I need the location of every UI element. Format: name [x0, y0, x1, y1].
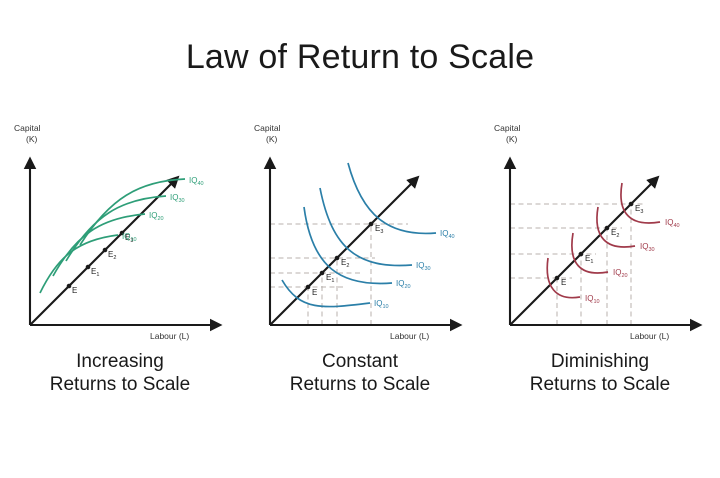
- label-isoquant-20: IQ20: [149, 211, 164, 222]
- expansion-path: [30, 183, 172, 325]
- isoquant-curve-4: [348, 163, 436, 233]
- y-axis-label-line2: (K): [266, 134, 278, 144]
- isoquant-curve-3: [66, 196, 166, 261]
- label-isoquant-20: IQ20: [613, 268, 628, 279]
- y-axis-label-line1: Capital: [494, 123, 521, 133]
- y-axis-label-line2: (K): [506, 134, 518, 144]
- chart-diminishing: E E1 E2 E3 IQ10 IQ20 IQ30 IQ40: [480, 115, 720, 345]
- label-point-E3: E3: [635, 204, 643, 215]
- isoquant-curve-4: [621, 183, 660, 223]
- caption-line1: Diminishing: [480, 350, 720, 373]
- label-point-E3: E3: [375, 224, 383, 235]
- panel-increasing: E E1 E2 E3 IQ10 IQ20 IQ30 IQ40: [0, 115, 240, 415]
- equilibrium-point-E2: [103, 248, 108, 253]
- label-isoquant-10: IQ10: [374, 299, 389, 310]
- equilibrium-point-E2: [605, 226, 610, 231]
- caption-diminishing: Diminishing Returns to Scale: [480, 350, 720, 396]
- label-point-E: E: [561, 278, 566, 287]
- isoquant-curve-3: [320, 188, 412, 265]
- equilibrium-point-E: [306, 285, 311, 290]
- label-point-E2: E2: [341, 258, 349, 269]
- equilibrium-point-E: [67, 284, 72, 289]
- equilibrium-point-E1: [579, 252, 584, 257]
- caption-line2: Returns to Scale: [0, 373, 240, 396]
- equilibrium-point-E3: [369, 222, 374, 227]
- label-isoquant-40: IQ40: [189, 176, 204, 187]
- label-point-E1: E1: [326, 273, 334, 284]
- equilibrium-point-E: [555, 276, 560, 281]
- label-isoquant-20: IQ20: [396, 279, 411, 290]
- label-point-E2: E2: [108, 250, 116, 261]
- panel-diminishing: E E1 E2 E3 IQ10 IQ20 IQ30 IQ40: [480, 115, 720, 415]
- label-isoquant-40: IQ40: [665, 218, 680, 229]
- x-axis-label: Labour (L): [150, 331, 189, 341]
- label-point-E: E: [72, 286, 77, 295]
- equilibrium-point-E1: [320, 271, 325, 276]
- label-isoquant-10: IQ10: [585, 294, 600, 305]
- label-isoquant-30: IQ30: [640, 242, 655, 253]
- label-isoquant-30: IQ30: [416, 261, 431, 272]
- caption-line1: Constant: [240, 350, 480, 373]
- y-axis-label-line1: Capital: [14, 123, 41, 133]
- equilibrium-point-E1: [86, 265, 91, 270]
- y-axis-label-line1: Capital: [254, 123, 281, 133]
- isoquant-curve-1: [40, 235, 118, 293]
- label-isoquant-40: IQ40: [440, 229, 455, 240]
- x-axis-label: Labour (L): [390, 331, 429, 341]
- equilibrium-point-E2: [335, 256, 340, 261]
- caption-constant: Constant Returns to Scale: [240, 350, 480, 396]
- chart-increasing: E E1 E2 E3 IQ10 IQ20 IQ30 IQ40: [0, 115, 240, 345]
- isoquant-curve-4: [80, 179, 185, 245]
- caption-increasing: Increasing Returns to Scale: [0, 350, 240, 396]
- caption-line1: Increasing: [0, 350, 240, 373]
- chart-constant: E E1 E2 E3 IQ10 IQ20 IQ30 IQ40: [240, 115, 480, 345]
- isoquant-curve-3: [597, 207, 635, 247]
- x-axis-label: Labour (L): [630, 331, 669, 341]
- label-point-E: E: [312, 288, 317, 297]
- equilibrium-point-E3: [629, 202, 634, 207]
- page-title: Law of Return to Scale: [0, 38, 720, 77]
- panel-constant: E E1 E2 E3 IQ10 IQ20 IQ30 IQ40: [240, 115, 480, 415]
- y-axis-label-line2: (K): [26, 134, 38, 144]
- label-point-E2: E2: [611, 228, 619, 239]
- label-point-E1: E1: [585, 254, 593, 265]
- panels-container: E E1 E2 E3 IQ10 IQ20 IQ30 IQ40: [0, 115, 720, 415]
- label-isoquant-30: IQ30: [170, 193, 185, 204]
- expansion-path: [270, 183, 412, 325]
- caption-line2: Returns to Scale: [480, 373, 720, 396]
- label-point-E1: E1: [91, 267, 99, 278]
- caption-line2: Returns to Scale: [240, 373, 480, 396]
- isoquant-curve-1: [282, 280, 370, 307]
